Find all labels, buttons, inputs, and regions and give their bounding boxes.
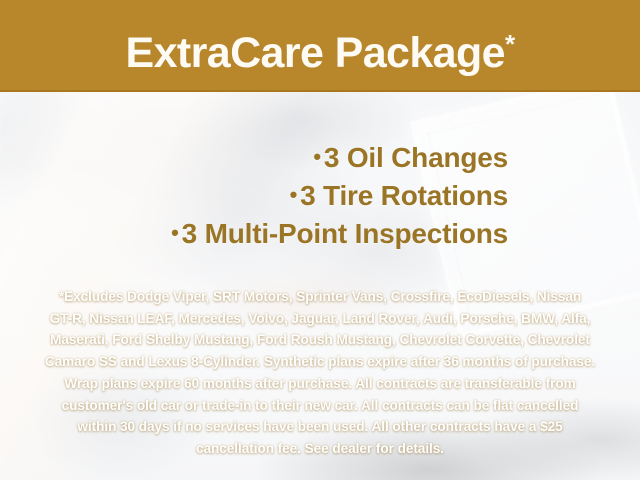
extracare-package-promo-card: ExtraCare Package* •3 Oil Changes •3 Tir… bbox=[0, 0, 640, 480]
disclaimer-line: Wrap plans expire 60 months after purcha… bbox=[26, 373, 614, 395]
page-title: ExtraCare Package* bbox=[0, 0, 640, 88]
disclaimer-line: Maserati, Ford Shelby Mustang, Ford Rous… bbox=[26, 329, 614, 351]
disclaimer-text: *Excludes Dodge Viper, SRT Motors, Sprin… bbox=[26, 286, 614, 460]
bullet-dot-icon: • bbox=[290, 182, 298, 207]
disclaimer-line: within 30 days if no services have been … bbox=[26, 416, 614, 438]
bullet-dot-icon: • bbox=[313, 144, 321, 169]
list-item: •3 Oil Changes bbox=[0, 138, 508, 176]
list-item-label: 3 Oil Changes bbox=[324, 142, 508, 173]
list-item: •3 Multi-Point Inspections bbox=[0, 214, 508, 252]
disclaimer-line: customer's old car or trade-in to their … bbox=[26, 395, 614, 417]
bullet-dot-icon: • bbox=[171, 220, 179, 245]
list-item-label: 3 Tire Rotations bbox=[300, 180, 508, 211]
disclaimer-line: Camaro SS and Lexus 8-Cylinder. Syntheti… bbox=[26, 351, 614, 373]
benefits-list: •3 Oil Changes •3 Tire Rotations •3 Mult… bbox=[0, 138, 508, 252]
page-title-asterisk: * bbox=[505, 29, 515, 59]
disclaimer-line: cancellation fee. See dealer for details… bbox=[26, 438, 614, 460]
disclaimer-line: *Excludes Dodge Viper, SRT Motors, Sprin… bbox=[26, 286, 614, 308]
page-title-text: ExtraCare Package bbox=[126, 29, 505, 77]
list-item-label: 3 Multi-Point Inspections bbox=[182, 218, 508, 249]
header-bar: ExtraCare Package* bbox=[0, 0, 640, 92]
list-item: •3 Tire Rotations bbox=[0, 176, 508, 214]
disclaimer-line: GT-R, Nissan LEAF, Mercedes, Volvo, Jagu… bbox=[26, 308, 614, 330]
